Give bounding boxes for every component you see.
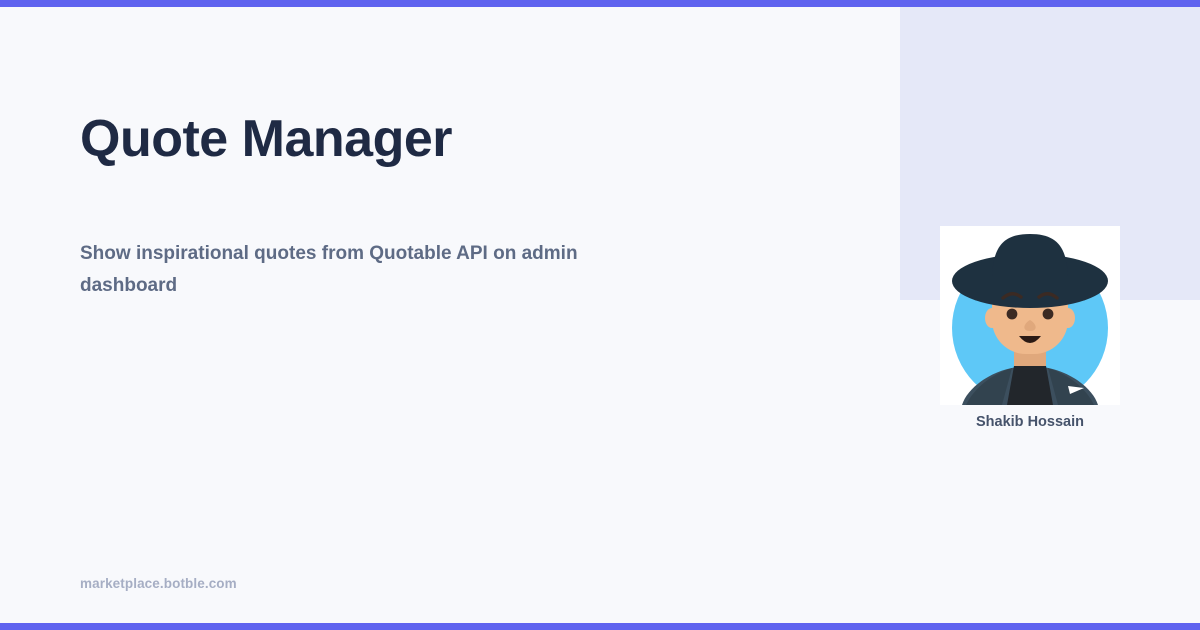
hero-content: Quote Manager Show inspirational quotes …	[80, 0, 780, 630]
marketplace-url: marketplace.botble.com	[80, 576, 237, 591]
person-avatar-illustration	[940, 226, 1120, 405]
author-name: Shakib Hossain	[940, 414, 1120, 430]
avatar	[940, 226, 1120, 405]
top-accent-bar	[0, 0, 1200, 7]
author-block: Shakib Hossain	[940, 226, 1120, 430]
page-title: Quote Manager	[80, 110, 452, 170]
page-subtitle: Show inspirational quotes from Quotable …	[80, 238, 640, 302]
bottom-accent-bar	[0, 623, 1200, 630]
promo-banner: Quote Manager Show inspirational quotes …	[0, 0, 1200, 630]
